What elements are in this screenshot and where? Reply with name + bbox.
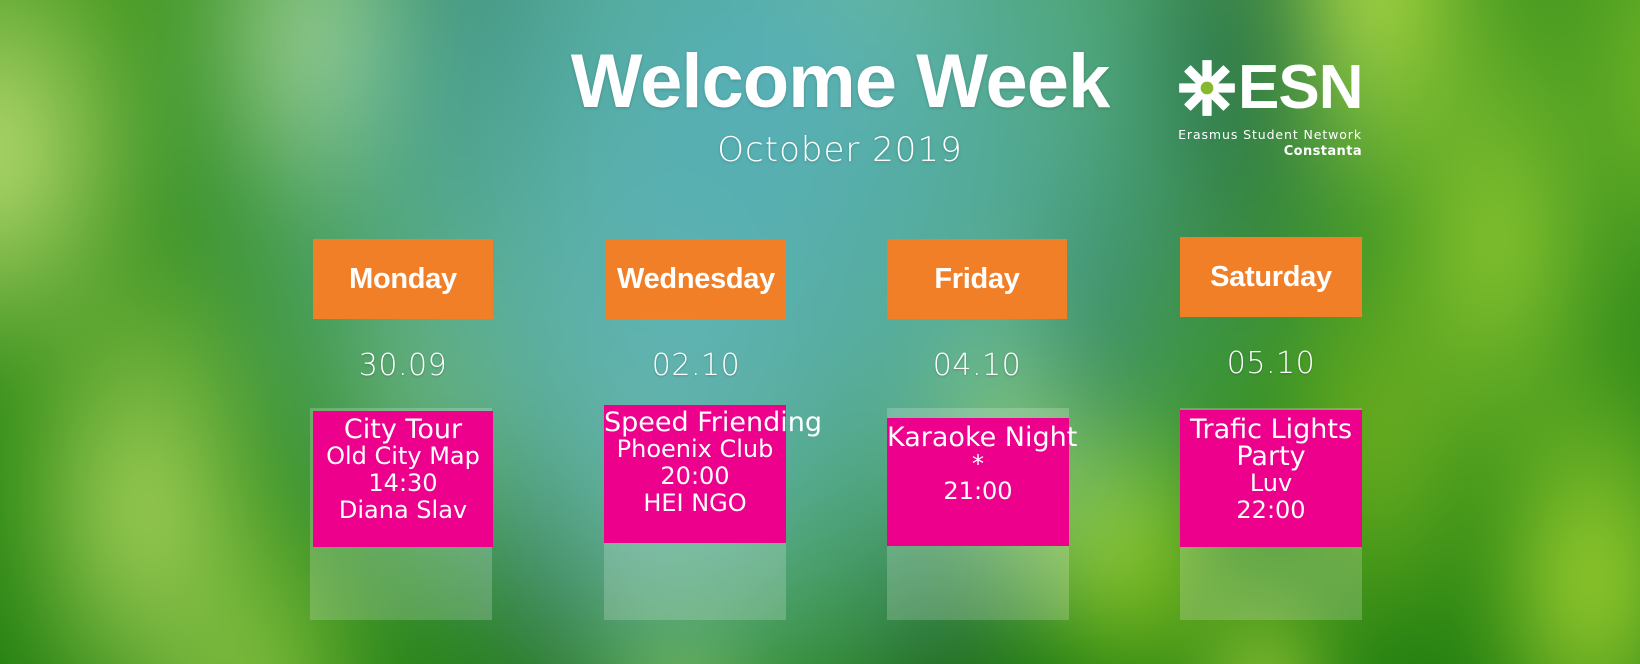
day-date-saturday: 05.10 [1180, 346, 1362, 381]
day-header-monday[interactable]: Monday [313, 239, 493, 319]
event-title: Karaoke Night [887, 424, 1069, 451]
event-location: Old City Map [313, 443, 493, 470]
event-title: Trafic Lights [1180, 416, 1362, 443]
day-header-saturday[interactable]: Saturday [1180, 237, 1362, 317]
event-organiser: Diana Slav [313, 497, 493, 524]
event-card-friday[interactable]: Karaoke Night * 21:00 [887, 418, 1069, 546]
day-header-friday[interactable]: Friday [887, 239, 1067, 319]
event-title: Speed Friending [604, 409, 786, 436]
event-time: 20:00 [604, 463, 786, 490]
event-location: * [887, 451, 1069, 478]
week-schedule: Monday 30.09 City Tour Old City Map 14:3… [0, 0, 1640, 664]
event-title-line2: Party [1180, 443, 1362, 470]
event-location: Phoenix Club [604, 436, 786, 463]
day-date-friday: 04.10 [887, 348, 1067, 383]
event-time: 14:30 [313, 470, 493, 497]
day-date-monday: 30.09 [313, 348, 493, 383]
event-organiser: HEI NGO [604, 490, 786, 517]
event-location: Luv [1180, 470, 1362, 497]
event-card-monday[interactable]: City Tour Old City Map 14:30 Diana Slav [313, 411, 493, 547]
event-card-wednesday[interactable]: Speed Friending Phoenix Club 20:00 HEI N… [604, 405, 786, 543]
event-title: City Tour [313, 416, 493, 443]
event-time: 21:00 [887, 478, 1069, 505]
day-date-wednesday: 02.10 [606, 348, 786, 383]
day-header-wednesday[interactable]: Wednesday [606, 239, 786, 319]
event-card-saturday[interactable]: Trafic Lights Party Luv 22:00 [1180, 410, 1362, 547]
welcome-week-poster: Welcome Week October 2019 [0, 0, 1640, 664]
event-time: 22:00 [1180, 497, 1362, 524]
